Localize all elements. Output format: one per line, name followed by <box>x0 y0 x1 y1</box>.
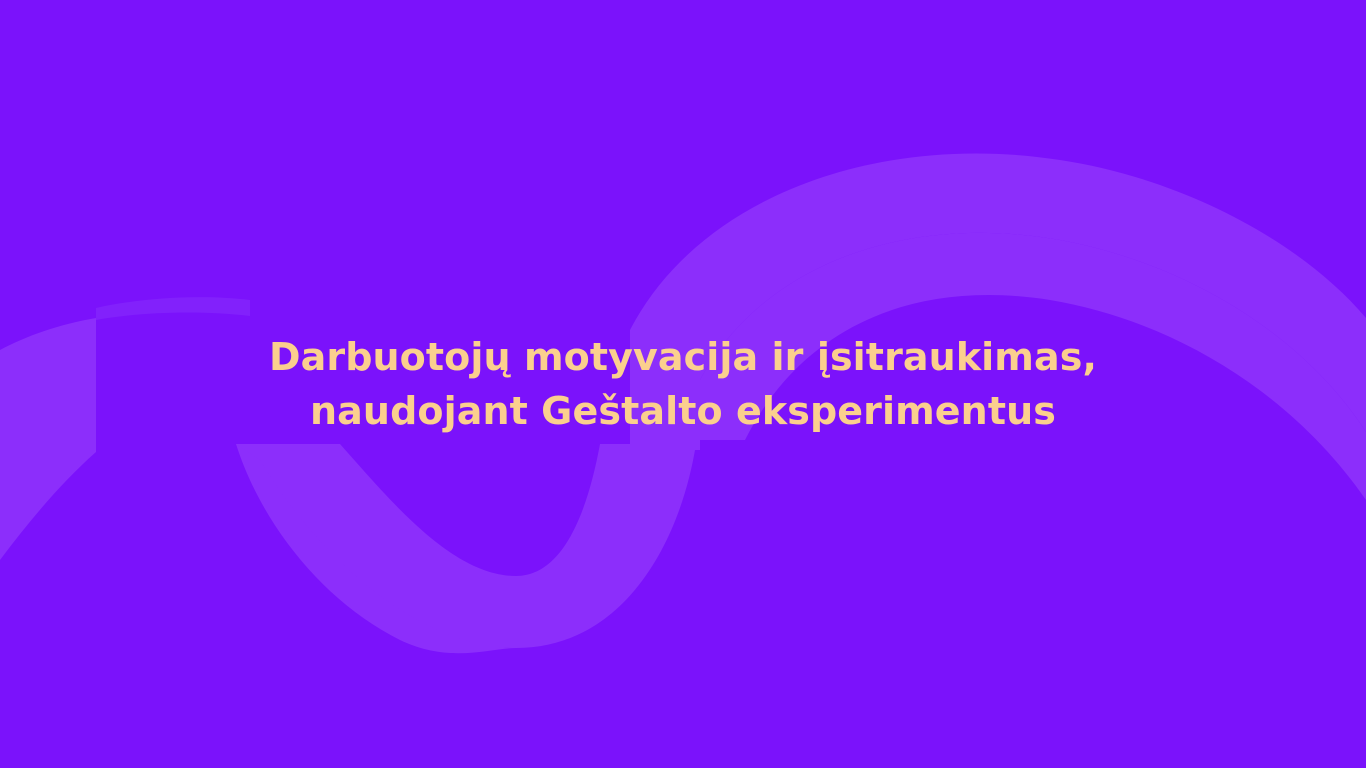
title-line-1: Darbuotojų motyvacija ir įsitraukimas, <box>60 330 1306 384</box>
title-line-2: naudojant Geštalto eksperimentus <box>60 384 1306 438</box>
page-title: Darbuotojų motyvacija ir įsitraukimas, n… <box>0 330 1366 438</box>
title-slide: Darbuotojų motyvacija ir įsitraukimas, n… <box>0 0 1366 768</box>
